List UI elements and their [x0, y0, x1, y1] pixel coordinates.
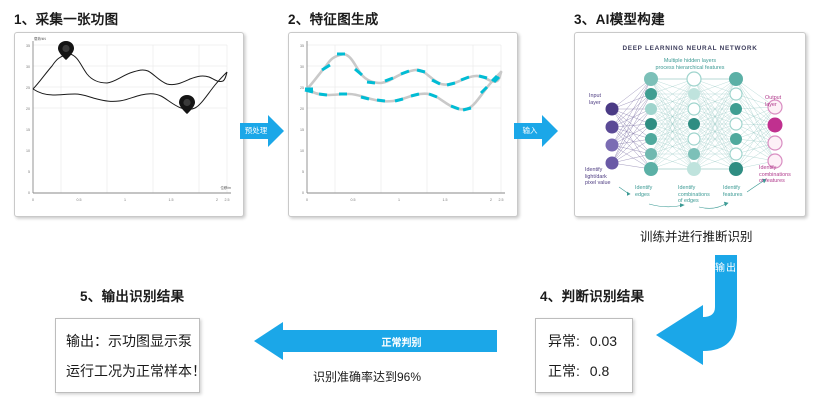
arrow-normal-judgement-head	[254, 322, 283, 360]
caption-accuracy: 识别准确率达到96%	[313, 368, 421, 385]
y-axis-label: 载荷/kN	[34, 36, 46, 41]
svg-text:15: 15	[300, 128, 304, 132]
x-tick-labels: 0 0.5 1 1.5 2 2.5	[306, 198, 504, 202]
nn-output-nodes	[768, 100, 783, 168]
nn-output-layer-label: Outputlayer	[765, 95, 805, 108]
curve-downstroke	[33, 72, 227, 110]
caption-train-infer: 训练并进行推断识别	[640, 226, 753, 245]
step-3-title: 3、AI模型构建	[574, 8, 665, 28]
axes	[307, 41, 505, 193]
svg-text:1.5: 1.5	[169, 198, 174, 202]
result-label-normal: 正常:	[548, 363, 580, 379]
svg-text:0: 0	[302, 191, 304, 195]
feature-map-plot: 35 30 25 20 15 10 5 0 0 0.5 1 1.5 2 2.5	[289, 33, 517, 216]
svg-text:1: 1	[398, 198, 400, 202]
svg-text:5: 5	[302, 170, 304, 174]
output-line-1: 输出：示功图显示泵	[66, 331, 199, 351]
output-result-box: 输出：示功图显示泵 运行工况为正常样本！	[55, 318, 200, 393]
nn-identify-edges-label: Identifyedges	[635, 185, 675, 198]
svg-text:0.5: 0.5	[77, 198, 82, 202]
svg-text:10: 10	[26, 149, 30, 153]
x-axis-label: 位移/m	[220, 185, 231, 190]
nn-identify-features-label: Identifyfeatures	[723, 185, 763, 198]
arrow-normal-judgement-label: 正常判别	[314, 334, 489, 349]
arrow-output-text: 输出	[715, 263, 737, 274]
svg-text:35: 35	[300, 44, 304, 48]
nn-edges-h1-h2	[651, 79, 694, 169]
svg-text:20: 20	[300, 107, 304, 111]
arrow-input-label: 输入	[516, 125, 544, 137]
feature-markers-downstroke	[305, 76, 497, 110]
svg-text:2: 2	[216, 198, 218, 202]
svg-text:15: 15	[26, 128, 30, 132]
arrow-output-svg	[642, 255, 762, 365]
curve-upstroke	[33, 54, 227, 89]
svg-text:2: 2	[490, 198, 492, 202]
nn-identify-comb-features-label: Identifycombinationsor features	[759, 165, 805, 185]
svg-text:35: 35	[26, 44, 30, 48]
arrow-output-label: 输出	[715, 263, 737, 275]
dynamometer-plot: 35 30 25 20 15 10 5 0 0 0.5 1 1.5 2 2.5 …	[15, 33, 243, 216]
result-row-abnormal: 异常: 0.03	[548, 331, 632, 351]
nn-input-layer-label: Inputlayer	[589, 93, 623, 106]
arrow-input: 输入	[514, 115, 560, 147]
dynamometer-svg: 35 30 25 20 15 10 5 0 0 0.5 1 1.5 2 2.5 …	[15, 33, 243, 216]
arrow-normal-judgement: 正常判别	[254, 322, 504, 360]
svg-text:2.5: 2.5	[499, 198, 504, 202]
nn-input-nodes	[606, 103, 619, 170]
result-label-abnormal: 异常:	[548, 333, 580, 349]
panel-feature-map: 35 30 25 20 15 10 5 0 0 0.5 1 1.5 2 2.5	[288, 32, 518, 217]
svg-text:20: 20	[26, 107, 30, 111]
feature-markers-upstroke	[305, 54, 499, 89]
arrow-output-elbow: 输出	[642, 255, 762, 365]
svg-text:1.5: 1.5	[443, 198, 448, 202]
step-2-title: 2、特征图生成	[288, 8, 379, 28]
feature-map-svg: 35 30 25 20 15 10 5 0 0 0.5 1 1.5 2 2.5	[289, 33, 517, 216]
nn-identify-pixel-label: Identifylight/darkpixel value	[585, 167, 631, 187]
step-5-title: 5、输出识别结果	[80, 285, 184, 305]
step-1-title: 1、采集一张功图	[14, 8, 118, 28]
nn-identify-comb-edges-label: Identifycombinationsof edges	[678, 185, 726, 205]
svg-text:2.5: 2.5	[225, 198, 230, 202]
arrow-input-head	[542, 115, 558, 147]
x-tick-labels: 0 0.5 1 1.5 2 2.5	[32, 198, 230, 202]
svg-text:0: 0	[306, 198, 308, 202]
svg-text:1: 1	[124, 198, 126, 202]
classification-result-box: 异常: 0.03 正常: 0.8	[535, 318, 633, 393]
output-line-2: 运行工况为正常样本！	[66, 361, 199, 381]
svg-text:30: 30	[26, 65, 30, 69]
svg-text:30: 30	[300, 65, 304, 69]
svg-text:0: 0	[28, 191, 30, 195]
result-value-abnormal: 0.03	[590, 333, 617, 349]
arrow-preprocess-label: 预处理	[242, 125, 270, 137]
step-4-title: 4、判断识别结果	[540, 285, 644, 305]
svg-text:5: 5	[28, 170, 30, 174]
pin-marker-min	[179, 95, 195, 114]
arrow-preprocess-head	[268, 115, 284, 147]
result-value-normal: 0.8	[590, 363, 609, 379]
svg-text:0: 0	[32, 198, 34, 202]
result-row-normal: 正常: 0.8	[548, 361, 632, 381]
svg-text:0.5: 0.5	[351, 198, 356, 202]
grid-lines	[33, 45, 227, 193]
svg-text:25: 25	[26, 86, 30, 90]
grid-lines	[307, 45, 501, 193]
neural-network-figure: DEEP LEARNING NEURAL NETWORK Multiple hi…	[579, 37, 801, 212]
svg-text:10: 10	[300, 149, 304, 153]
panel-neural-network: DEEP LEARNING NEURAL NETWORK Multiple hi…	[574, 32, 806, 217]
panel-dynamometer-chart: 35 30 25 20 15 10 5 0 0 0.5 1 1.5 2 2.5 …	[14, 32, 244, 217]
svg-text:25: 25	[300, 86, 304, 90]
arrow-preprocess: 预处理	[240, 115, 286, 147]
y-tick-labels: 35 30 25 20 15 10 5 0	[300, 44, 304, 195]
y-tick-labels: 35 30 25 20 15 10 5 0	[26, 44, 30, 195]
axes	[33, 41, 231, 193]
